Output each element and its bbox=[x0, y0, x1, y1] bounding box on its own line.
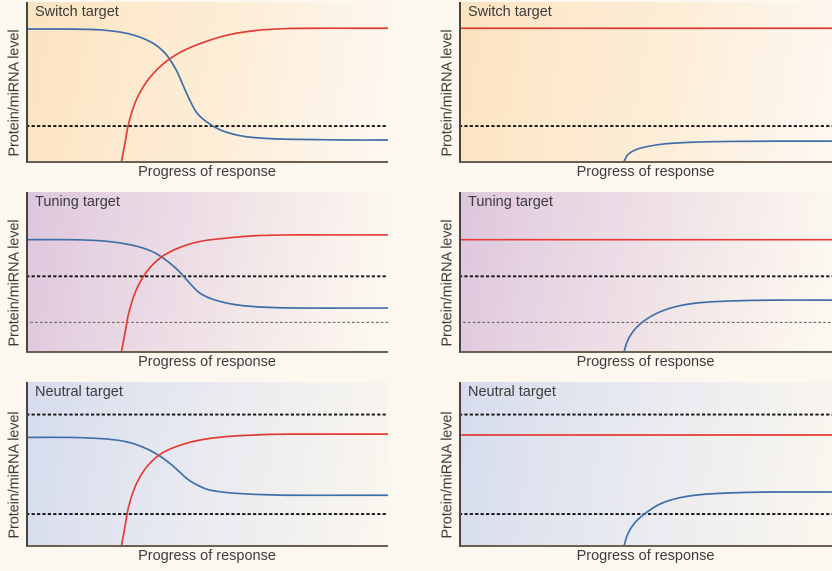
panel-neutral-left: Protein/miRNA level Neutral target Progr… bbox=[4, 382, 388, 568]
panel-switch-left: Protein/miRNA level Switch target Progre… bbox=[4, 2, 388, 184]
plot-area-neutral-right: Neutral target bbox=[459, 382, 832, 547]
curve-mirna-red bbox=[122, 235, 388, 351]
curve-target-protein-blue bbox=[624, 492, 832, 545]
panel-title: Neutral target bbox=[468, 384, 556, 400]
plot-area-switch-right: Switch target bbox=[459, 2, 832, 163]
panel-title: Neutral target bbox=[35, 384, 123, 400]
panel-title: Switch target bbox=[468, 4, 552, 20]
panel-title: Tuning target bbox=[468, 194, 553, 210]
x-axis-label: Progress of response bbox=[26, 547, 388, 568]
x-axis-label: Progress of response bbox=[459, 547, 832, 568]
curve-mirna-red bbox=[122, 28, 388, 161]
x-axis-label: Progress of response bbox=[459, 163, 832, 184]
curve-target-protein-blue bbox=[28, 437, 388, 495]
panel-tuning-left: Protein/miRNA level Tuning target Progre… bbox=[4, 192, 388, 374]
y-axis-label: Protein/miRNA level bbox=[4, 192, 26, 374]
x-axis-label: Progress of response bbox=[26, 163, 388, 184]
figure-root: Protein/miRNA level Switch target Progre… bbox=[0, 0, 832, 571]
panel-title: Switch target bbox=[35, 4, 119, 20]
curve-mirna-red bbox=[122, 434, 388, 545]
plot-canvas bbox=[461, 2, 832, 161]
x-axis-label: Progress of response bbox=[26, 353, 388, 374]
curve-target-protein-blue bbox=[624, 300, 832, 351]
x-axis-label: Progress of response bbox=[459, 353, 832, 374]
plot-area-tuning-left: Tuning target bbox=[26, 192, 388, 353]
panel-switch-right: Protein/miRNA level Switch target Progre… bbox=[437, 2, 832, 184]
plot-canvas bbox=[28, 382, 388, 545]
plot-canvas bbox=[28, 192, 388, 351]
plot-area-tuning-right: Tuning target bbox=[459, 192, 832, 353]
panel-title: Tuning target bbox=[35, 194, 120, 210]
plot-canvas bbox=[461, 192, 832, 351]
plot-area-switch-left: Switch target bbox=[26, 2, 388, 163]
curve-target-protein-blue bbox=[624, 141, 832, 161]
curve-target-protein-blue bbox=[28, 240, 388, 309]
y-axis-label: Protein/miRNA level bbox=[437, 382, 459, 568]
plot-area-neutral-left: Neutral target bbox=[26, 382, 388, 547]
curve-target-protein-blue bbox=[28, 29, 388, 140]
panel-neutral-right: Protein/miRNA level Neutral target Progr… bbox=[437, 382, 832, 568]
plot-canvas bbox=[461, 382, 832, 545]
y-axis-label: Protein/miRNA level bbox=[437, 2, 459, 184]
y-axis-label: Protein/miRNA level bbox=[437, 192, 459, 374]
y-axis-label: Protein/miRNA level bbox=[4, 2, 26, 184]
y-axis-label: Protein/miRNA level bbox=[4, 382, 26, 568]
panel-tuning-right: Protein/miRNA level Tuning target Progre… bbox=[437, 192, 832, 374]
plot-canvas bbox=[28, 2, 388, 161]
